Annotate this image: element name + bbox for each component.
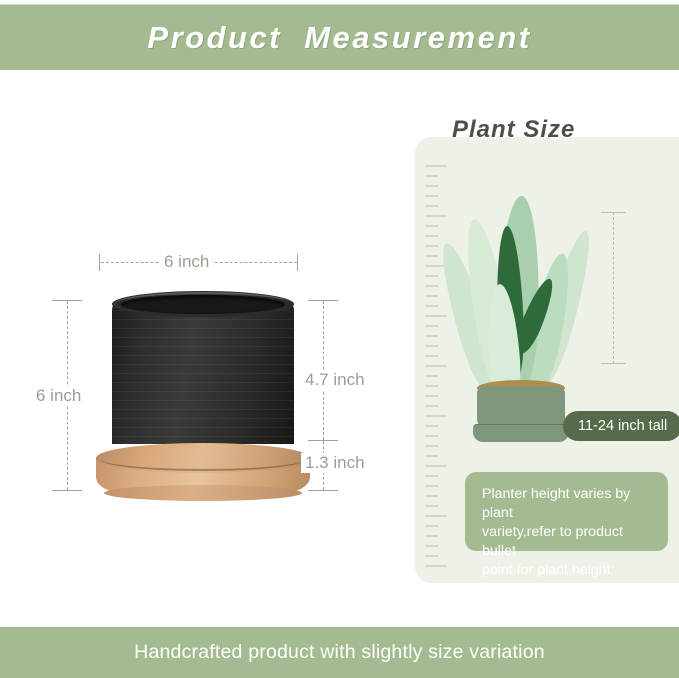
ruler-tick-minor <box>425 545 438 547</box>
ruler-tick-minor <box>425 535 438 537</box>
ruler-tick-minor <box>425 185 438 187</box>
ruler-tick-minor <box>425 175 438 177</box>
plant-note-line-1: Planter height varies by plant <box>482 485 651 523</box>
ruler-tick-minor <box>425 195 438 197</box>
ruler-tick-major <box>425 365 447 367</box>
pot-rim-highlight <box>114 292 293 316</box>
ruler-tick-minor <box>425 485 438 487</box>
ruler-scale <box>425 165 455 565</box>
plant-height-measure <box>613 212 615 364</box>
ruler-tick-minor <box>425 445 438 447</box>
plant-height-dash-line <box>613 212 614 364</box>
plant-note-box: Planter height varies by plant variety,r… <box>465 472 668 551</box>
plant-size-title: Plant Size <box>452 116 575 144</box>
width-cap-left <box>99 254 100 271</box>
ruler-tick-minor <box>425 335 438 337</box>
ruler-tick-major <box>425 515 447 517</box>
ruler-tick-minor <box>425 475 438 477</box>
plant-illustration <box>453 192 589 447</box>
ruler-tick-major <box>425 165 447 167</box>
ruler-tick-major <box>425 215 447 217</box>
plant-height-badge: 11-24 inch tall <box>563 411 679 441</box>
pot-height-label: 4.7 inch <box>301 370 369 390</box>
ruler-tick-minor <box>425 495 438 497</box>
product-pot-image <box>108 291 298 491</box>
total-height-label: 6 inch <box>32 386 85 406</box>
ruler-tick-minor <box>425 235 438 237</box>
plant-height-cap-bottom <box>601 363 626 364</box>
ruler-tick-minor <box>425 205 438 207</box>
plant-pot-saucer <box>473 424 569 442</box>
saucer-bottom-edge <box>104 485 302 501</box>
width-label: 6 inch <box>160 252 213 272</box>
page-title: Product Measurement <box>147 20 531 56</box>
pot-ridge-texture <box>112 301 294 444</box>
plant-size-panel: 11-24 inch tall Planter height varies by… <box>415 137 679 583</box>
ruler-tick-major <box>425 565 447 567</box>
ruler-tick-minor <box>425 275 438 277</box>
ruler-tick-minor <box>425 525 438 527</box>
ruler-tick-minor <box>425 325 438 327</box>
saucer-groove <box>100 447 306 471</box>
ruler-tick-minor <box>425 395 438 397</box>
ruler-tick-minor <box>425 345 438 347</box>
pot-saucer <box>96 441 310 505</box>
saucer-height-cap-bottom <box>308 490 338 491</box>
ruler-tick-minor <box>425 435 438 437</box>
plant-note-line-2: variety,refer to product bullet <box>482 523 651 561</box>
plant-note-line-3: point for plant height details. <box>482 561 651 599</box>
ruler-tick-minor <box>425 245 438 247</box>
footer-banner: Handcrafted product with slightly size v… <box>0 627 679 678</box>
ruler-tick-minor <box>425 305 438 307</box>
ruler-tick-minor <box>425 255 438 257</box>
ruler-tick-minor <box>425 555 438 557</box>
product-photo-area: 6 inch 6 inch 4.7 inch 1.3 inch <box>0 69 408 627</box>
plant-pot <box>473 380 569 444</box>
ruler-tick-minor <box>425 455 438 457</box>
ruler-tick-minor <box>425 225 438 227</box>
ruler-tick-minor <box>425 505 438 507</box>
ruler-tick-major <box>425 465 447 467</box>
ruler-tick-minor <box>425 425 438 427</box>
ruler-tick-minor <box>425 405 438 407</box>
ruler-tick-minor <box>425 295 438 297</box>
ruler-tick-minor <box>425 385 438 387</box>
ruler-tick-minor <box>425 375 438 377</box>
footer-note: Handcrafted product with slightly size v… <box>134 641 545 664</box>
ruler-tick-minor <box>425 355 438 357</box>
width-cap-right <box>297 254 298 271</box>
header-banner: Product Measurement <box>0 4 679 70</box>
ruler-tick-major <box>425 315 447 317</box>
ruler-tick-major <box>425 415 447 417</box>
saucer-height-label: 1.3 inch <box>301 453 369 473</box>
ruler-tick-minor <box>425 285 438 287</box>
total-height-cap-bottom <box>52 490 82 491</box>
